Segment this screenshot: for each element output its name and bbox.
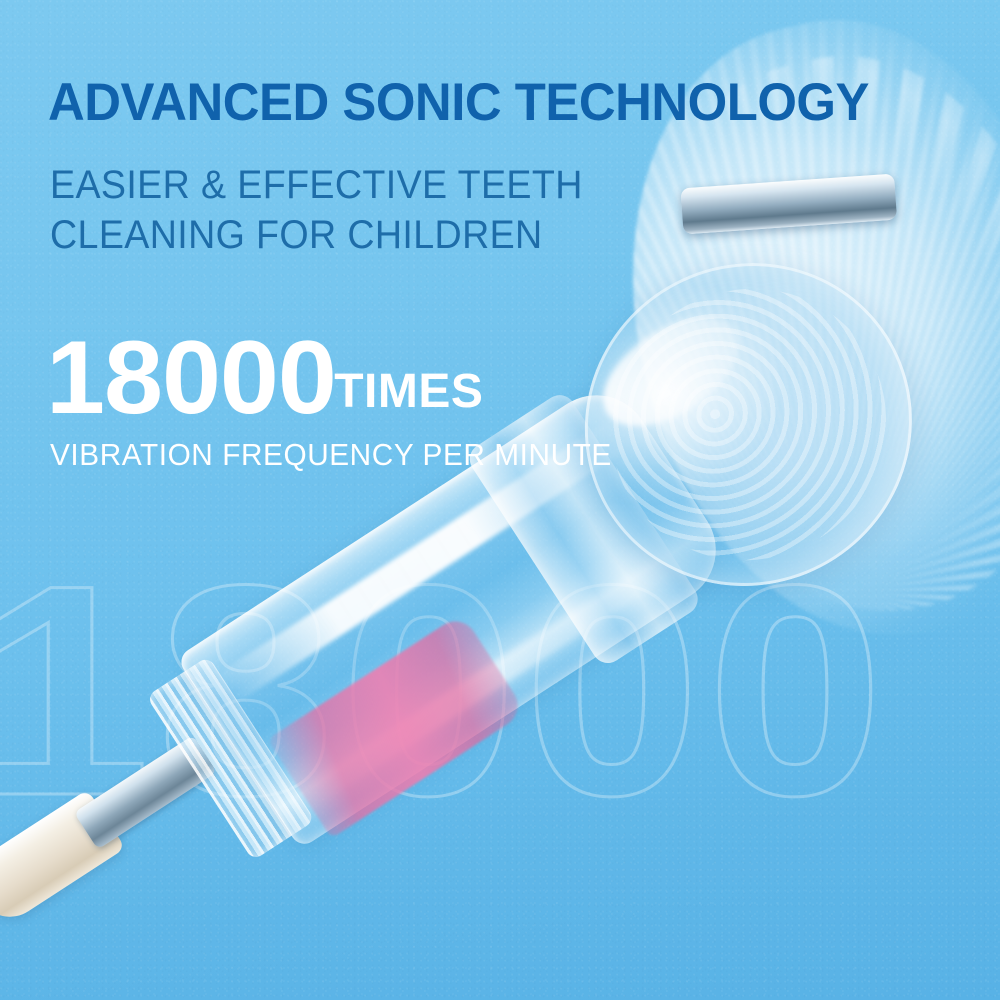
vibration-stat-block: 18000 TIMES: [46, 330, 483, 426]
product-marketing-poster: 18000 ADVANCED SONIC TECHNOLOGY EASIER &…: [0, 0, 1000, 1000]
stat-number: 18000: [46, 330, 336, 426]
stat-caption: VIBRATION FREQUENCY PER MINUTE: [50, 437, 612, 473]
page-subtitle: EASIER & EFFECTIVE TEETH CLEANING FOR CH…: [50, 160, 583, 260]
page-title: ADVANCED SONIC TECHNOLOGY: [48, 72, 869, 133]
watermark-number: 18000: [0, 540, 1000, 870]
stat-unit-label: TIMES: [330, 362, 483, 422]
chrome-drive-pin: [680, 174, 897, 235]
